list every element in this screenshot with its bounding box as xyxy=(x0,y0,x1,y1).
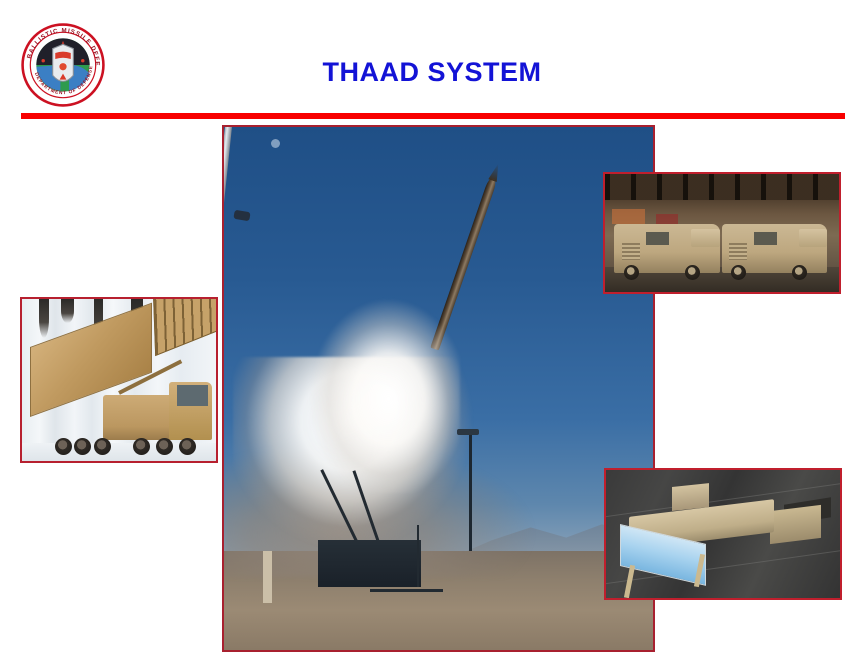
humvee-wheel xyxy=(624,265,639,280)
thaad-command-humvees-photo xyxy=(603,172,841,294)
slide-canvas: BALLISTIC MISSILE DEFENSE DEPARTMENT OF … xyxy=(0,0,864,667)
light-pole-head xyxy=(457,429,479,435)
bay-equipment xyxy=(612,209,645,223)
launch-pad-structure xyxy=(318,540,421,587)
pad-mast xyxy=(417,525,419,588)
truck-wheel xyxy=(94,438,111,455)
humvee-grille xyxy=(729,243,747,260)
thaad-launcher-truck-photo xyxy=(20,297,218,463)
cab-window xyxy=(177,385,208,406)
header-divider-rule xyxy=(21,113,845,119)
humvee-grille xyxy=(622,243,640,260)
humvee-windshield xyxy=(754,232,777,246)
truck-wheel xyxy=(179,438,196,455)
humvee-shelter xyxy=(799,229,827,248)
thaad-missile-launch-photo xyxy=(222,125,655,652)
pad-marker-post xyxy=(263,551,272,603)
humvee-windshield xyxy=(646,232,669,246)
thaad-radar-photo xyxy=(604,468,842,600)
radar-cooling-unit xyxy=(770,505,821,545)
humvee-shelter xyxy=(691,229,719,248)
truck-wheel xyxy=(74,438,91,455)
icicle xyxy=(61,299,74,323)
pad-truss xyxy=(370,589,443,592)
humvee-wheel xyxy=(685,265,700,280)
truck-wheel xyxy=(55,438,72,455)
truck-wheel xyxy=(133,438,150,455)
exhaust-plume-core xyxy=(301,284,460,493)
truck-wheel xyxy=(156,438,173,455)
page-title: THAAD SYSTEM xyxy=(0,57,864,88)
light-pole xyxy=(469,430,472,550)
moon xyxy=(271,139,280,148)
bay-ceiling-trusses xyxy=(605,174,839,200)
